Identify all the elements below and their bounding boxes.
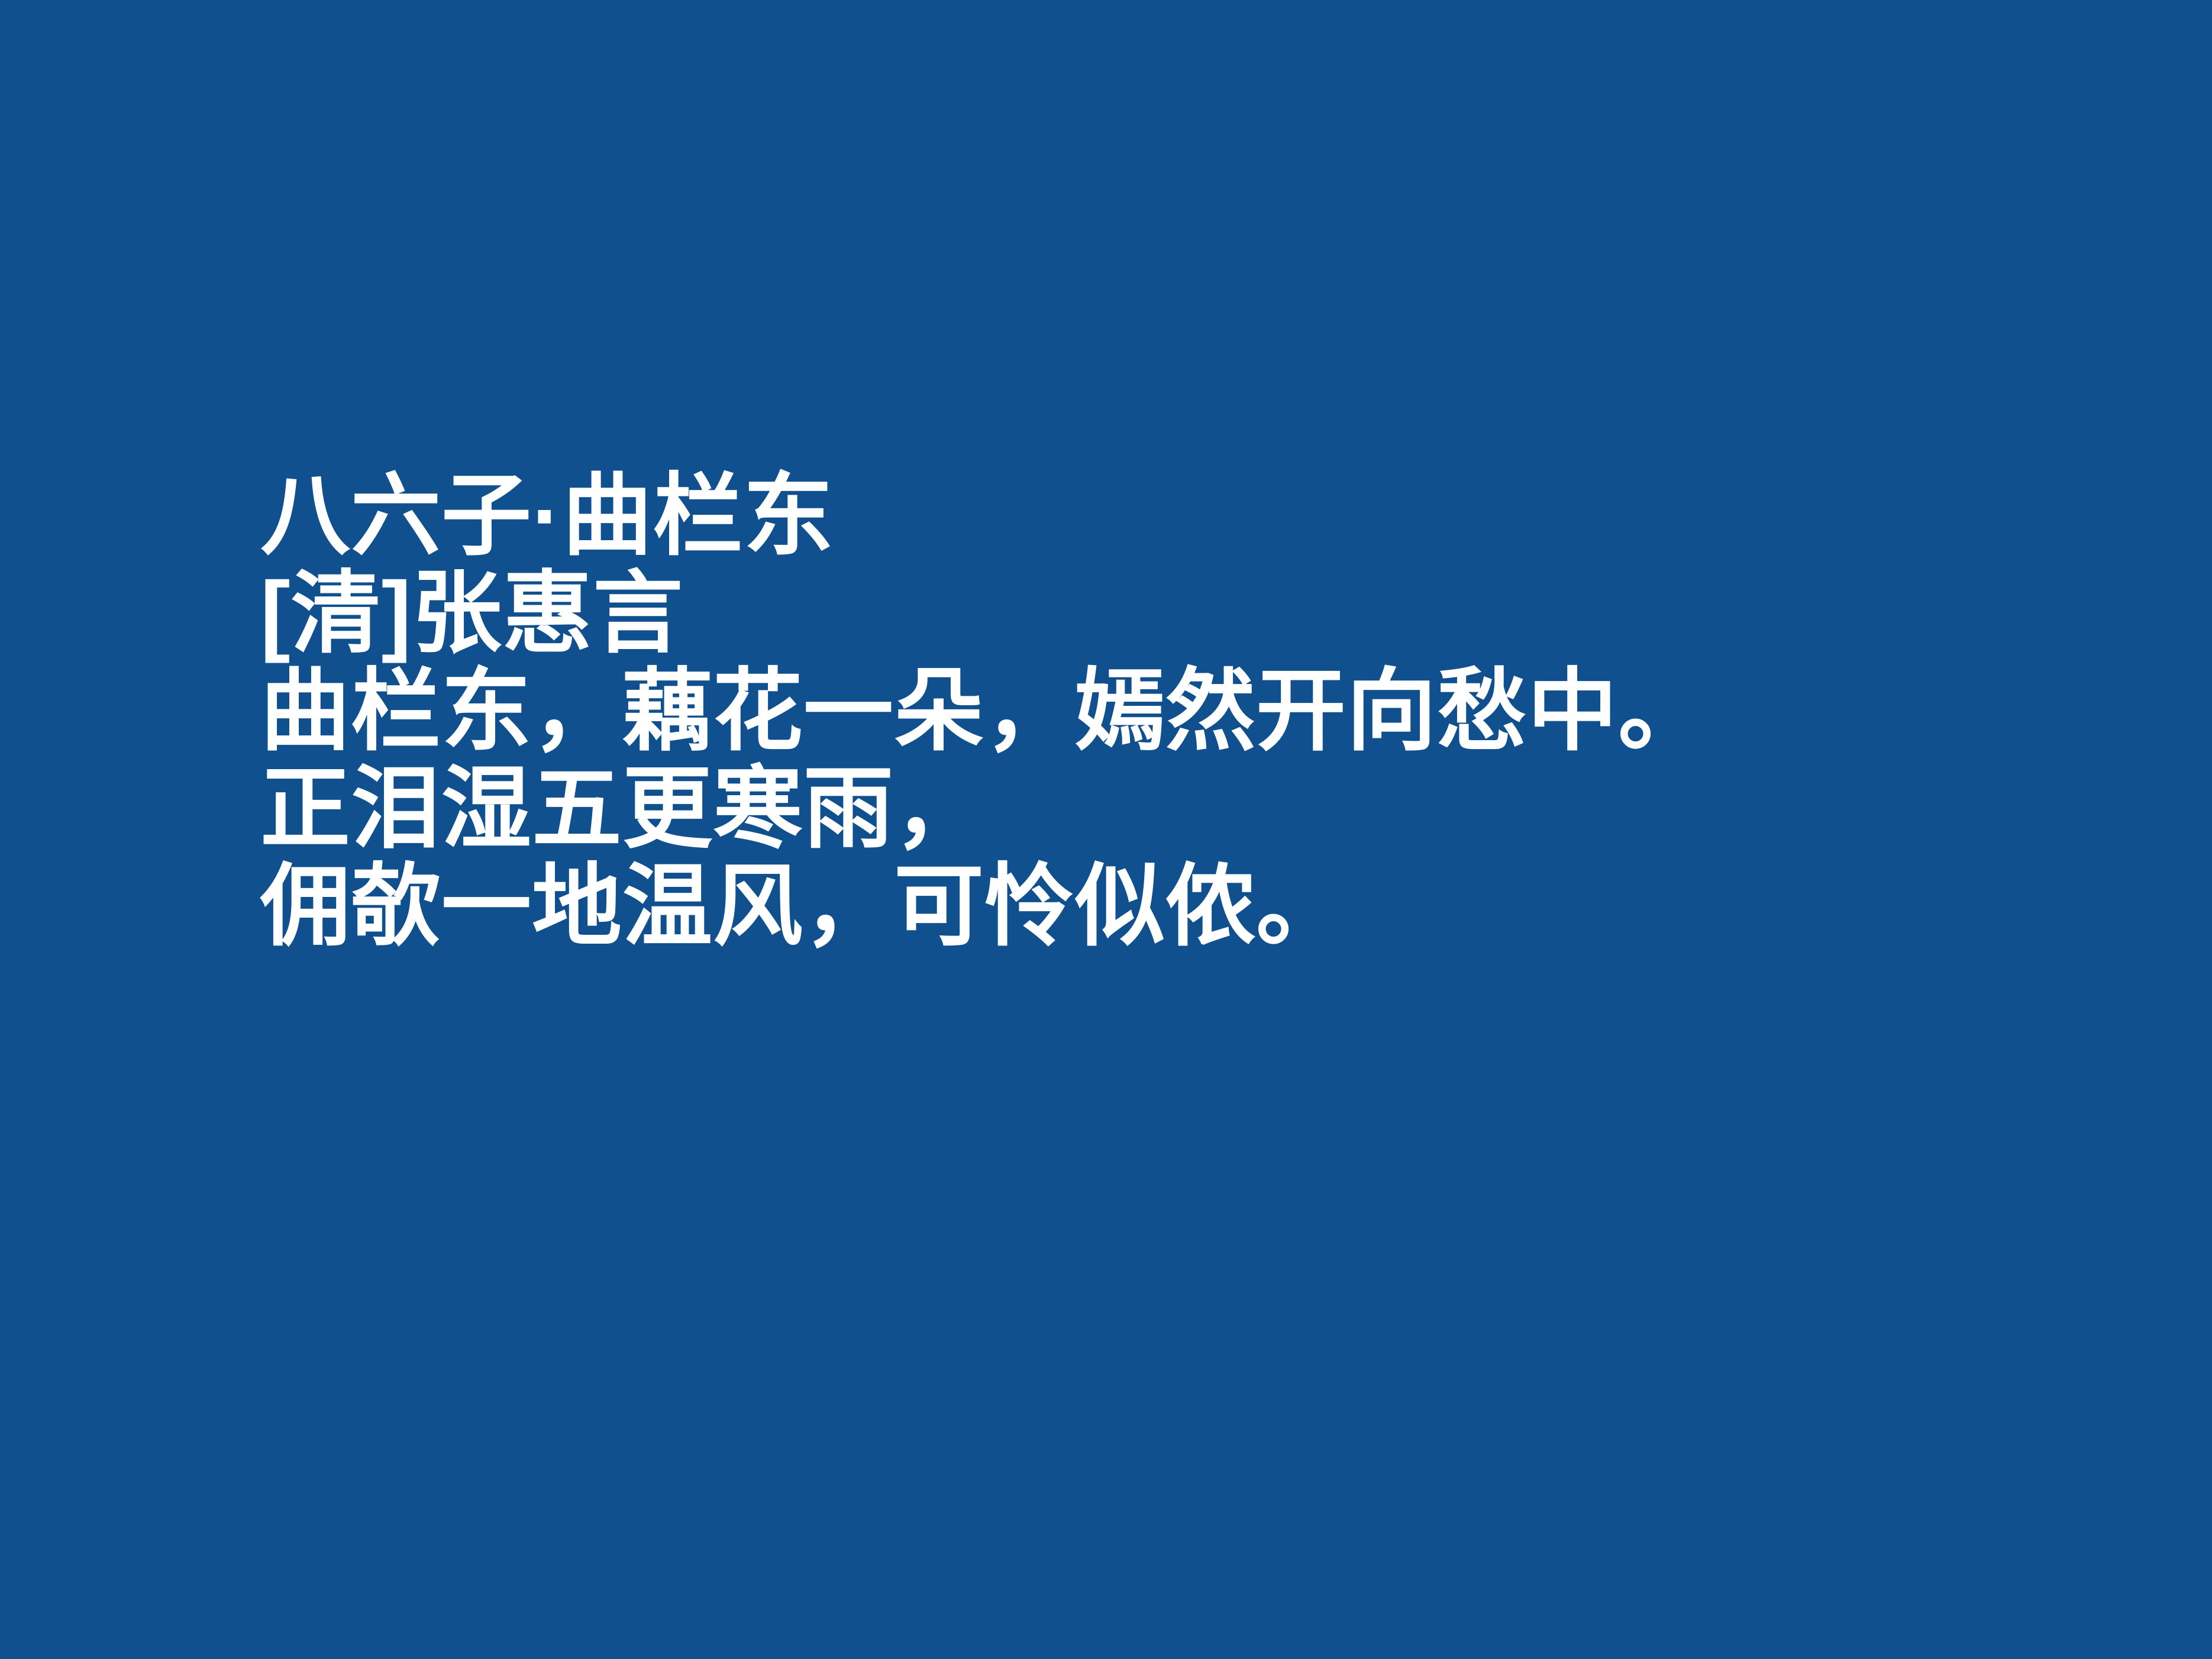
poem-text-block: 八六子·曲栏东 [清]张惠言 曲栏东，藕花一朵，嫣然开向愁中。 正泪湿五更寒雨，… [260, 467, 2106, 956]
poem-line-1: 曲栏东，藕花一朵，嫣然开向愁中。 [260, 663, 2106, 760]
poem-line-3: 佣欹一地温风，可怜似侬。 [260, 858, 2106, 956]
poem-line-2: 正泪湿五更寒雨， [260, 760, 2106, 858]
poem-title: 八六子·曲栏东 [260, 467, 2106, 565]
poem-attribution: [清]张惠言 [260, 565, 2106, 663]
poem-card: 八六子·曲栏东 [清]张惠言 曲栏东，藕花一朵，嫣然开向愁中。 正泪湿五更寒雨，… [0, 0, 2212, 1659]
